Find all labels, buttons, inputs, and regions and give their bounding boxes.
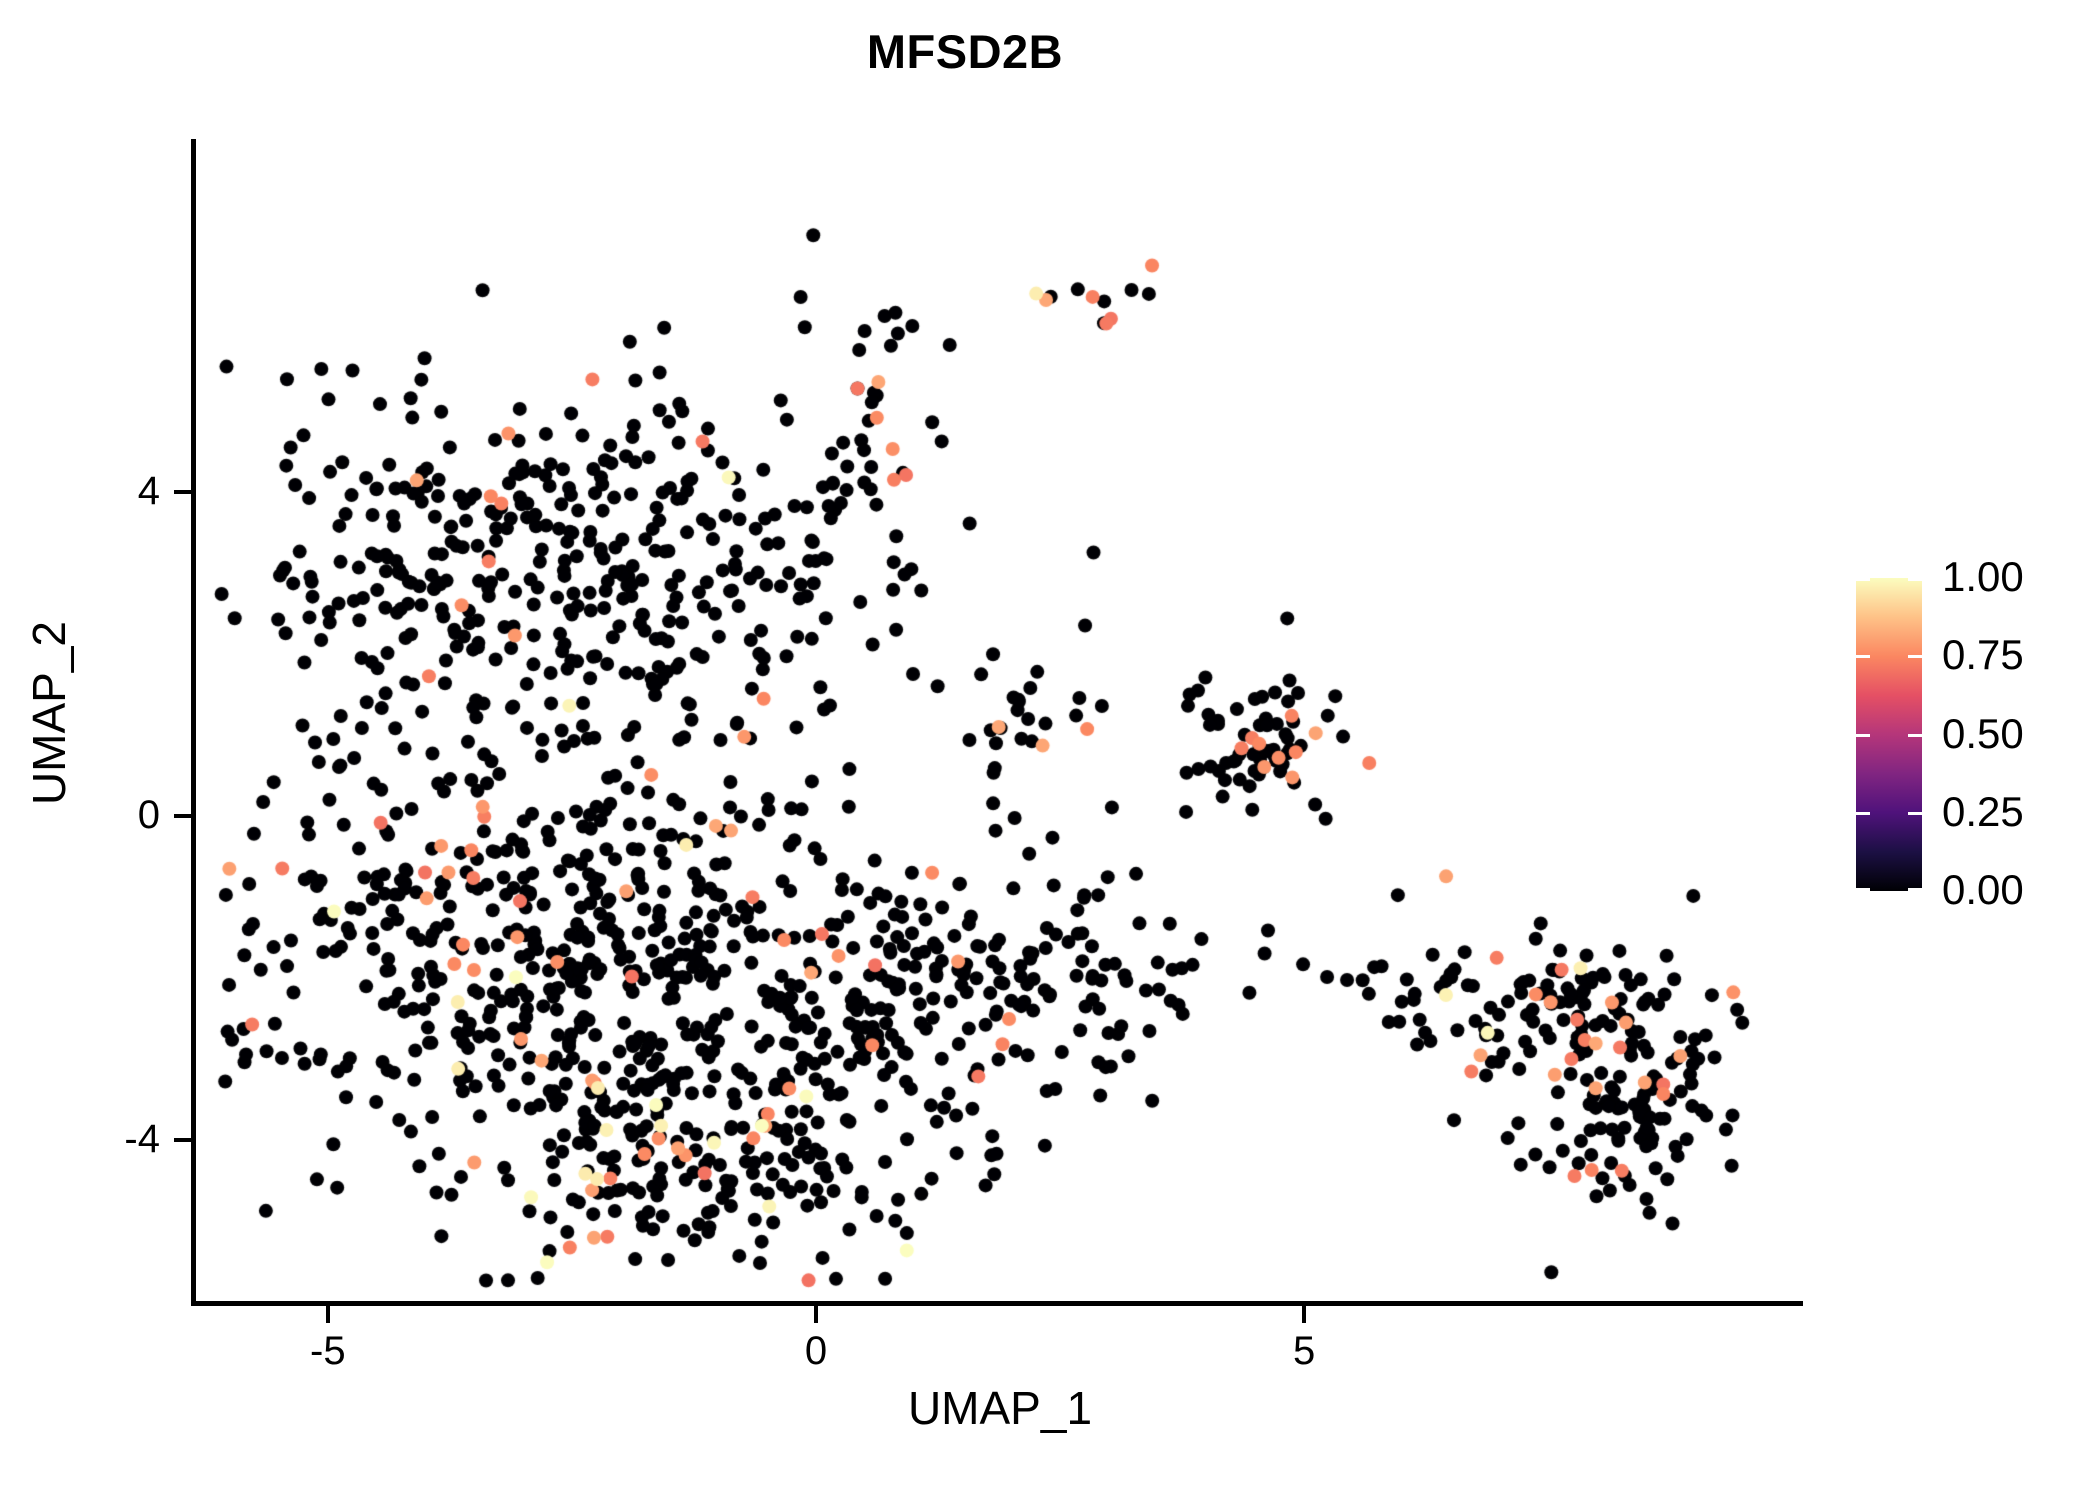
colorbar-label: 0.25 xyxy=(1942,791,2092,833)
x-tick-mark xyxy=(326,1306,330,1323)
x-axis-line xyxy=(191,1301,1803,1306)
colorbar-label: 0.75 xyxy=(1942,634,2092,676)
colorbar-tick-mark xyxy=(1856,812,1922,815)
colorbar-tick-mark xyxy=(1856,578,1922,581)
page-title: MFSD2B xyxy=(0,28,1930,75)
x-tick-label: -5 xyxy=(248,1331,408,1371)
x-tick-mark xyxy=(1302,1306,1306,1323)
colorbar-label: 0.00 xyxy=(1942,869,2092,911)
x-axis-title: UMAP_1 xyxy=(200,1385,1800,1431)
colorbar-label: 1.00 xyxy=(1942,556,2092,598)
colorbar-tick-mark xyxy=(1856,734,1922,737)
x-tick-mark xyxy=(814,1306,818,1323)
x-tick-label: 0 xyxy=(736,1331,896,1371)
y-tick-mark xyxy=(174,814,191,818)
y-tick-mark xyxy=(174,490,191,494)
color-legend: 1.000.750.500.250.00 xyxy=(1856,578,2086,898)
x-tick-label: 5 xyxy=(1224,1331,1384,1371)
scatter-plot-canvas xyxy=(196,140,1802,1302)
y-tick-label: -4 xyxy=(40,1119,160,1159)
y-axis-title: UMAP_2 xyxy=(26,363,72,1063)
plot-panel xyxy=(196,140,1802,1302)
y-tick-mark xyxy=(174,1138,191,1142)
figure-root: MFSD2B 40-4 -505 UMAP_2 UMAP_1 1.000.750… xyxy=(0,0,2100,1500)
colorbar-tick-mark xyxy=(1856,888,1922,891)
colorbar-label: 0.50 xyxy=(1942,713,2092,755)
colorbar-tick-mark xyxy=(1856,655,1922,658)
y-axis-line xyxy=(191,139,196,1306)
